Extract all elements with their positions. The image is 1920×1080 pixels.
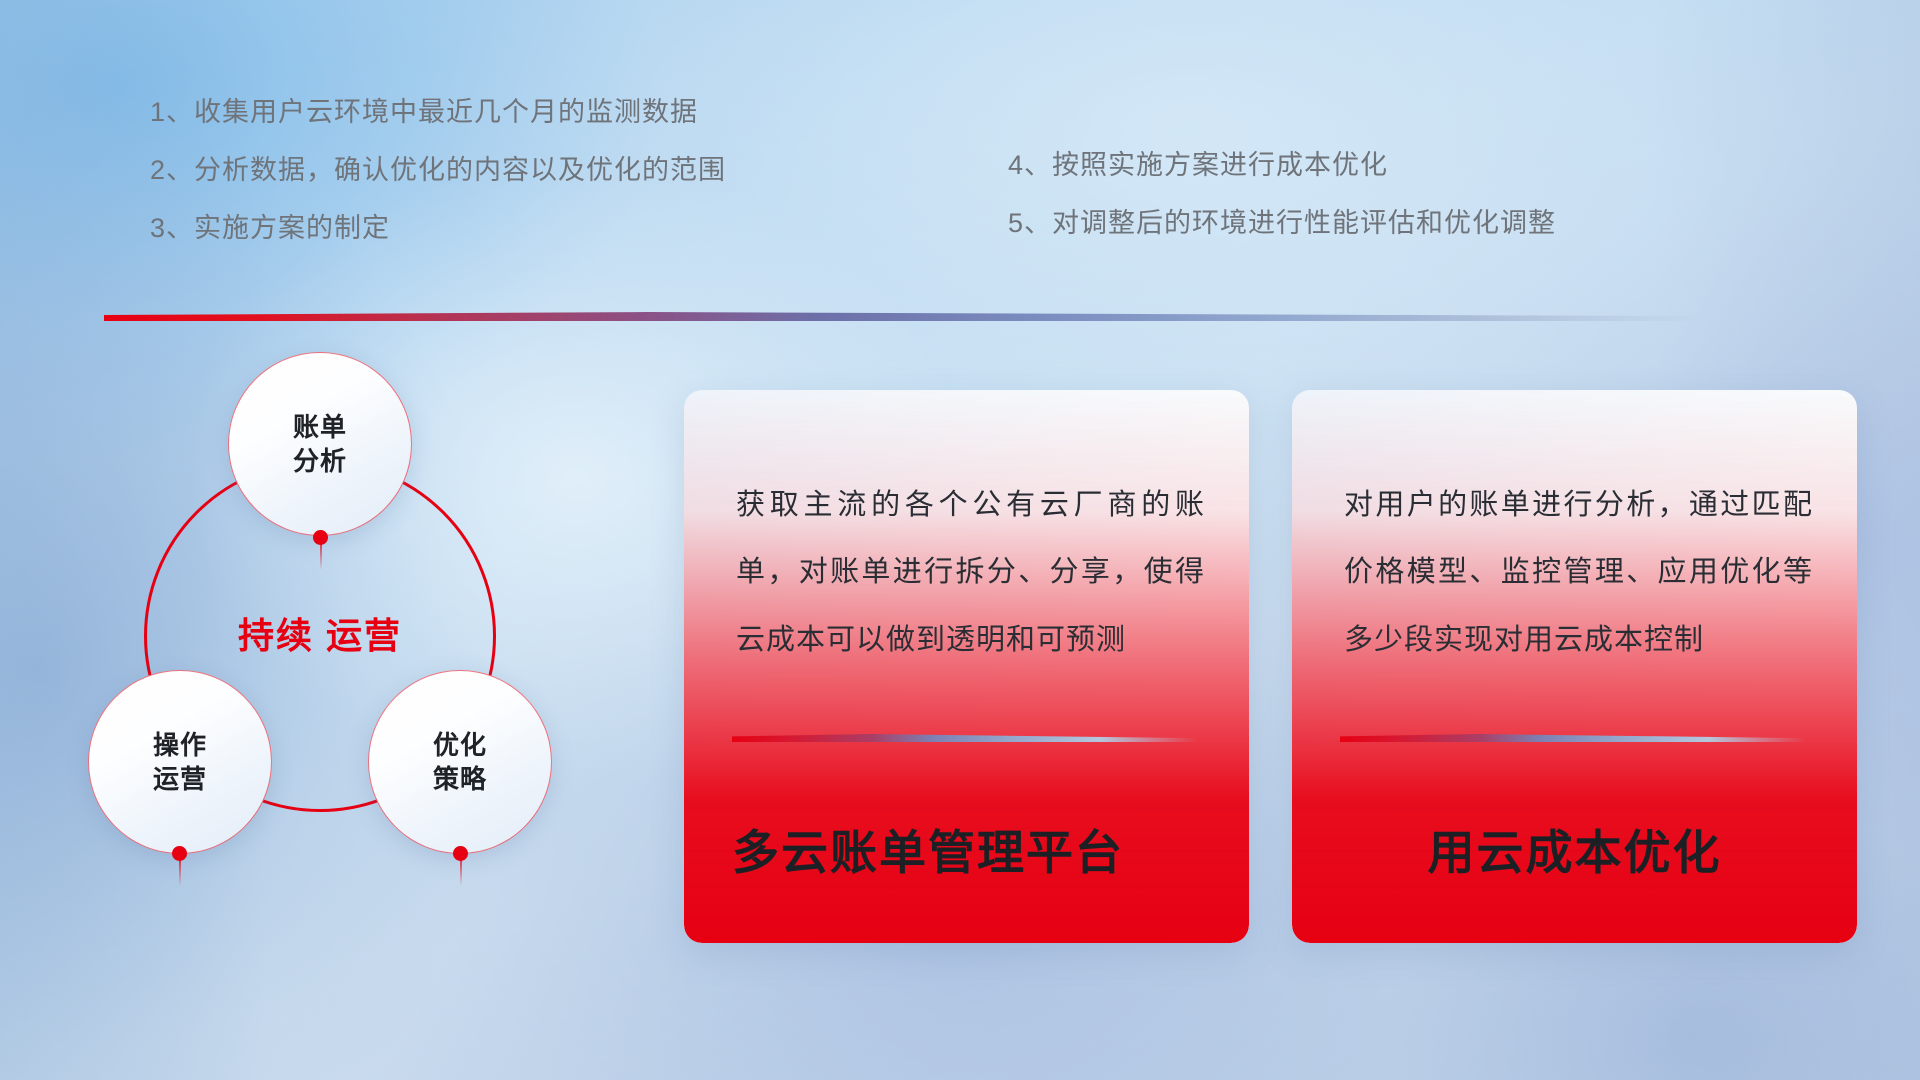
continuous-operation-venn-diagram: 持续 运营 账单 分析 操作 运营 优化 策略 [88,352,648,960]
venn-marker-tail-top [320,544,322,570]
venn-lobe-optimization-strategy-line2: 策略 [433,762,487,796]
step-item-5: 5、对调整后的环境进行性能评估和优化调整 [1008,210,1556,237]
venn-marker-dot-bottom-right [453,846,468,861]
venn-marker-tail-bottom-left [179,860,181,886]
venn-lobe-operations-line1: 操作 [153,728,207,762]
venn-lobe-bill-analysis-line1: 账单 [293,410,347,444]
step-item-3: 3、实施方案的制定 [150,215,726,242]
card-divider-rule [1340,733,1806,745]
venn-center-label-line1: 持续 [238,615,314,656]
venn-lobe-bill-analysis-line2: 分析 [293,444,347,478]
card-title: 多云账单管理平台 [732,814,1209,883]
divider-red-segment [104,312,648,321]
step-item-1: 1、收集用户云环境中最近几个月的监测数据 [150,99,726,126]
venn-lobe-optimization-strategy-line1: 优化 [433,728,487,762]
card-divider-blue-segment [872,734,1198,742]
venn-lobe-bill-analysis[interactable]: 账单 分析 [228,352,412,536]
card-divider-rule [732,733,1198,745]
venn-marker-tail-bottom-right [460,860,462,886]
step-item-2: 2、分析数据，确认优化的内容以及优化的范围 [150,157,726,184]
venn-marker-dot-top [313,530,328,545]
section-divider-rule [104,310,1704,324]
venn-lobe-operations[interactable]: 操作 运营 [88,670,272,854]
venn-center-label-line2: 运营 [326,615,402,656]
divider-blue-segment [648,312,1704,321]
card-divider-blue-segment [1480,734,1806,742]
steps-list-right: 4、按照实施方案进行成本优化 5、对调整后的环境进行性能评估和优化调整 [1008,152,1556,268]
venn-lobe-optimization-strategy[interactable]: 优化 策略 [368,670,552,854]
step-item-4: 4、按照实施方案进行成本优化 [1008,152,1556,179]
card-divider-red-segment [1340,734,1480,742]
card-divider-red-segment [732,734,872,742]
card-body-text: 对用户的账单进行分析，通过匹配价格模型、监控管理、应用优化等多少段实现对用云成本… [1344,472,1813,674]
steps-list-left: 1、收集用户云环境中最近几个月的监测数据 2、分析数据，确认优化的内容以及优化的… [150,99,726,273]
venn-marker-dot-bottom-left [172,846,187,861]
card-cloud-cost-optimization[interactable]: 对用户的账单进行分析，通过匹配价格模型、监控管理、应用优化等多少段实现对用云成本… [1292,390,1857,943]
card-title: 用云成本优化 [1332,814,1817,883]
slide-content: 1、收集用户云环境中最近几个月的监测数据 2、分析数据，确认优化的内容以及优化的… [0,0,1920,1080]
card-multicloud-bill-platform[interactable]: 获取主流的各个公有云厂商的账单，对账单进行拆分、分享，使得云成本可以做到透明和可… [684,390,1249,943]
card-body-text: 获取主流的各个公有云厂商的账单，对账单进行拆分、分享，使得云成本可以做到透明和可… [736,472,1205,674]
venn-lobe-operations-line2: 运营 [153,762,207,796]
